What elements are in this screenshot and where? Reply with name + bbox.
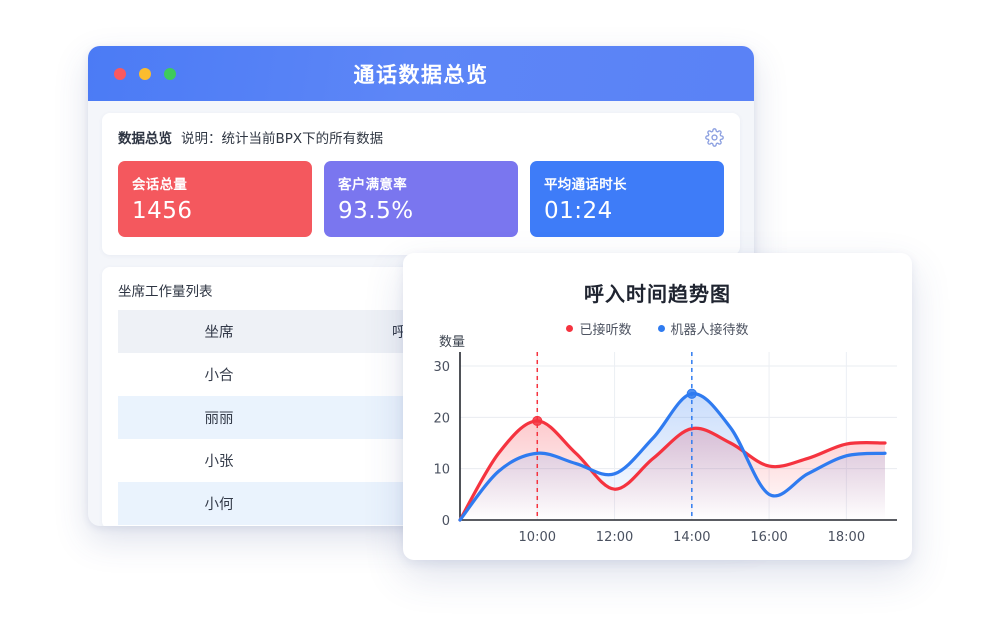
legend-item-robot[interactable]: 机器人接待数 — [658, 319, 749, 338]
summary-description: 说明：统计当前BPX下的所有数据 — [181, 127, 383, 147]
chart-title: 呼入时间趋势图 — [403, 278, 912, 307]
svg-text:14:00: 14:00 — [673, 530, 710, 545]
cell-agent: 小合 — [118, 353, 320, 396]
svg-text:18:00: 18:00 — [828, 530, 865, 545]
maximize-button[interactable] — [164, 68, 176, 80]
window-title: 通话数据总览 — [354, 59, 489, 89]
stat-card-total-sessions[interactable]: 会话总量 1456 — [118, 161, 312, 237]
y-axis-title: 数量 — [439, 331, 465, 350]
svg-text:0: 0 — [442, 514, 450, 529]
close-button[interactable] — [114, 68, 126, 80]
stat-card-value: 93.5% — [338, 198, 504, 224]
stat-card-satisfaction[interactable]: 客户满意率 93.5% — [324, 161, 518, 237]
stat-card-label: 平均通话时长 — [544, 173, 710, 193]
column-header-agent[interactable]: 坐席 — [118, 310, 320, 353]
svg-text:12:00: 12:00 — [596, 530, 633, 545]
legend-swatch-icon — [566, 325, 573, 332]
stat-card-value: 1456 — [132, 198, 298, 224]
minimize-button[interactable] — [139, 68, 151, 80]
legend-swatch-icon — [658, 325, 665, 332]
stat-card-label: 会话总量 — [132, 173, 298, 193]
svg-text:16:00: 16:00 — [750, 530, 787, 545]
svg-text:10:00: 10:00 — [519, 530, 556, 545]
cell-agent: 丽丽 — [118, 396, 320, 439]
summary-panel: 数据总览 说明：统计当前BPX下的所有数据 会话总量 1456 客户满意率 — [102, 113, 740, 255]
svg-text:10: 10 — [433, 463, 450, 478]
summary-header-texts: 数据总览 说明：统计当前BPX下的所有数据 — [118, 127, 383, 147]
traffic-lights — [114, 68, 176, 80]
svg-text:20: 20 — [433, 411, 450, 426]
cell-agent: 小张 — [118, 439, 320, 482]
stat-cards: 会话总量 1456 客户满意率 93.5% 平均通话时长 01:24 — [118, 161, 724, 237]
stat-card-value: 01:24 — [544, 198, 710, 224]
cell-agent: 小何 — [118, 482, 320, 525]
legend-label: 机器人接待数 — [671, 319, 749, 338]
stat-card-label: 客户满意率 — [338, 173, 504, 193]
summary-header: 数据总览 说明：统计当前BPX下的所有数据 — [118, 127, 724, 147]
summary-title: 数据总览 — [118, 127, 172, 147]
svg-text:30: 30 — [433, 360, 450, 375]
chart-panel: 呼入时间趋势图 已接听数 机器人接待数 数量 010203010:0012:00… — [403, 253, 912, 560]
gear-icon[interactable] — [705, 128, 724, 147]
stat-card-avg-duration[interactable]: 平均通话时长 01:24 — [530, 161, 724, 237]
chart-legend: 已接听数 机器人接待数 — [403, 319, 912, 338]
legend-item-answered[interactable]: 已接听数 — [566, 319, 631, 338]
window-titlebar: 通话数据总览 — [88, 46, 754, 101]
legend-label: 已接听数 — [579, 319, 631, 338]
